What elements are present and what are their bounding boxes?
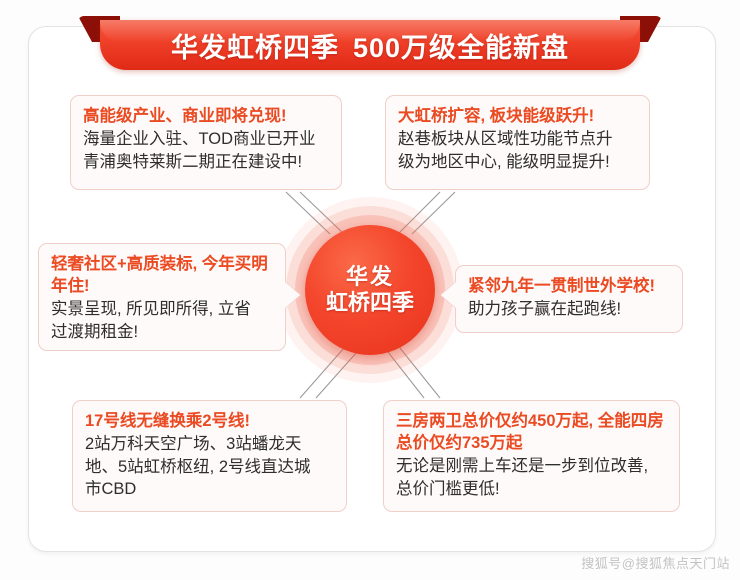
ribbon-body: 华发虹桥四季500万级全能新盘 (100, 20, 640, 70)
callout-industry-headline: 高能级产业、商业即将兑现! (83, 105, 329, 127)
center-hub: 华发 虹桥四季 (293, 213, 447, 367)
callout-hongqiao-headline: 大虹桥扩容, 板块能级跃升! (398, 105, 637, 127)
callout-industry-body: 海量企业入驻、TOD商业已开业青浦奥特莱斯二期正在建设中! (83, 128, 329, 173)
callout-metro-body: 2站万科天空广场、3站蟠龙天地、5站虹桥枢纽, 2号线直达城市CBD (85, 433, 334, 500)
callout-school-headline: 紧邻九年一贯制世外学校! (468, 275, 670, 297)
callout-community-body: 实景呈现, 所见即所得, 立省过渡期租金! (51, 298, 273, 343)
callout-metro: 17号线无缝换乘2号线! 2站万科天空广场、3站蟠龙天地、5站虹桥枢纽, 2号线… (72, 400, 347, 512)
banner-title: 华发虹桥四季500万级全能新盘 (171, 26, 569, 65)
hub-core-circle: 华发 虹桥四季 (305, 225, 435, 355)
hub-label-line1: 华发 (346, 264, 394, 290)
callout-price: 三房两卫总价仅约450万起, 全能四房总价仅约735万起 无论是刚需上车还是一步… (383, 400, 680, 512)
infographic-poster: 华发虹桥四季500万级全能新盘 华发 虹桥四季 高能级产业、商业即将兑现! 海量… (0, 0, 740, 580)
callout-community: 轻奢社区+高质装标, 今年买明年住! 实景呈现, 所见即所得, 立省过渡期租金! (38, 243, 286, 351)
callout-hongqiao-body: 赵巷板块从区域性功能节点升级为地区中心, 能级明显提升! (398, 128, 637, 173)
callout-metro-headline: 17号线无缝换乘2号线! (85, 410, 334, 432)
hub-label-line2: 虹桥四季 (326, 290, 414, 316)
callout-community-headline: 轻奢社区+高质装标, 今年买明年住! (51, 253, 273, 297)
callout-price-body: 无论是刚需上车还是一步到位改善,总价门槛更低! (396, 455, 667, 500)
source-watermark: 搜狐号@搜狐焦点天门站 (581, 553, 730, 572)
banner-title-main: 华发虹桥四季 (171, 33, 339, 63)
callout-community-tail (285, 282, 300, 308)
callout-school: 紧邻九年一贯制世外学校! 助力孩子赢在起跑线! (455, 265, 683, 333)
callout-school-body: 助力孩子赢在起跑线! (468, 298, 670, 320)
header-ribbon: 华发虹桥四季500万级全能新盘 (78, 8, 662, 70)
callout-price-headline: 三房两卫总价仅约450万起, 全能四房总价仅约735万起 (396, 410, 667, 454)
callout-school-tail (441, 282, 456, 308)
banner-title-sub: 500万级全能新盘 (353, 33, 569, 63)
callout-hongqiao: 大虹桥扩容, 板块能级跃升! 赵巷板块从区域性功能节点升级为地区中心, 能级明显… (385, 95, 650, 190)
callout-industry: 高能级产业、商业即将兑现! 海量企业入驻、TOD商业已开业青浦奥特莱斯二期正在建… (70, 95, 342, 190)
